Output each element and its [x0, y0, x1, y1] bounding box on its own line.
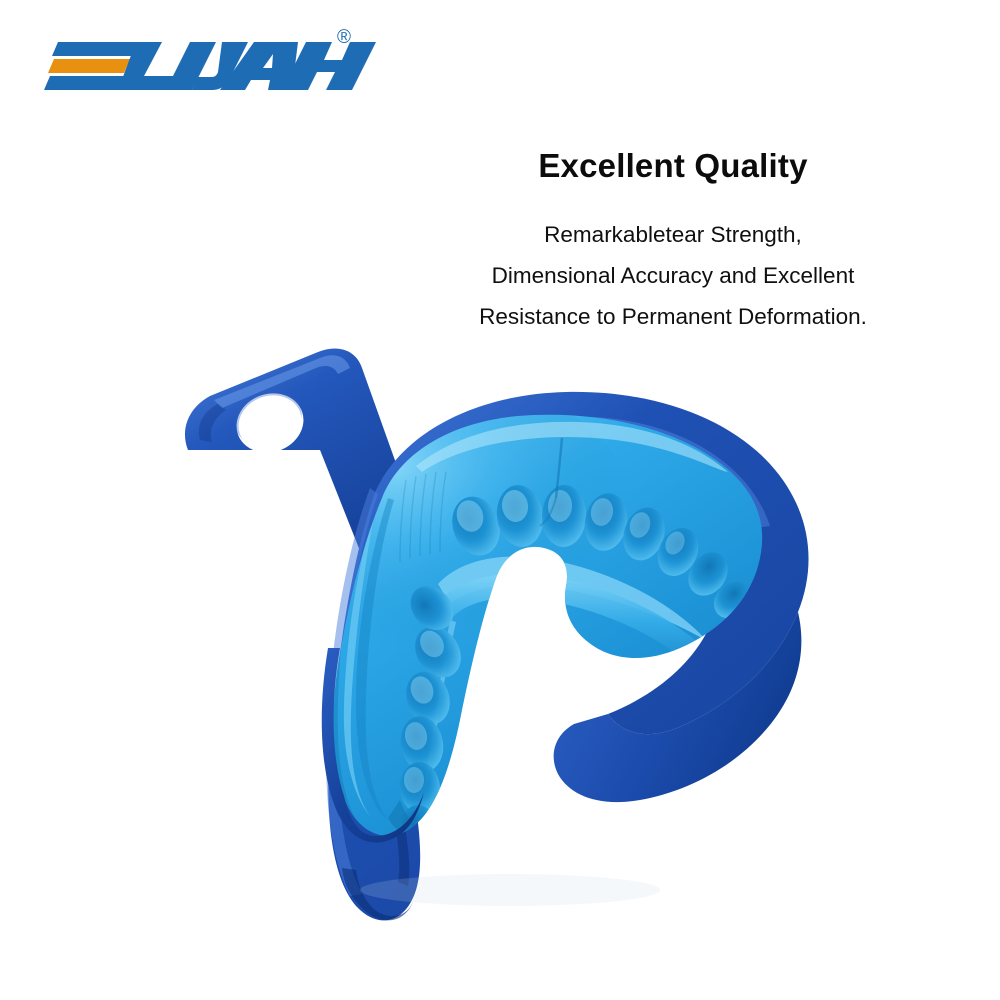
product-banner: ® Excellent Quality Remarkabletear Stren… — [0, 0, 1000, 1000]
elijah-wordmark-icon — [40, 22, 380, 102]
subline-1: Remarkabletear Strength, — [438, 214, 908, 255]
product-image — [170, 330, 850, 940]
headline: Excellent Quality — [438, 148, 908, 184]
registered-trademark-icon: ® — [337, 28, 351, 47]
marketing-copy: Excellent Quality Remarkabletear Strengt… — [438, 148, 908, 337]
brand-logo: ® — [40, 22, 380, 102]
subline-2: Dimensional Accuracy and Excellent — [438, 255, 908, 296]
dental-impression-tray-illustration — [170, 330, 850, 940]
